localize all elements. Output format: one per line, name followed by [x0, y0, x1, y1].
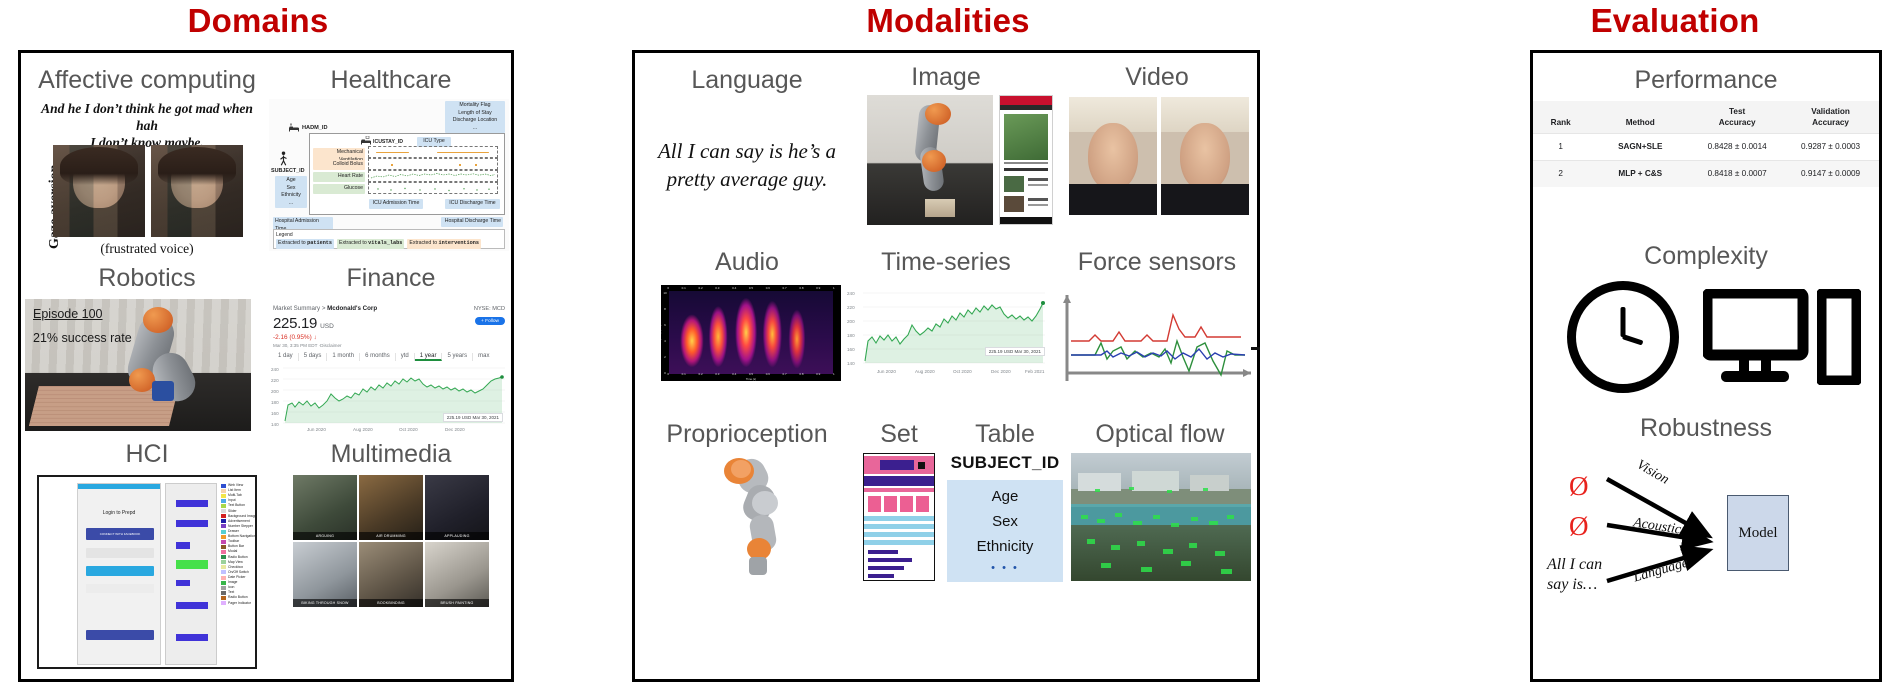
- outcome-discharge-location: Discharge Location: [447, 117, 503, 125]
- section-title-optical-flow: Optical flow: [1065, 421, 1255, 447]
- finance-breadcrumb-prefix: Market Summary >: [273, 305, 327, 312]
- ts-y-tick-180: 180: [847, 333, 855, 338]
- column-title-modalities: Modalities: [628, 2, 1268, 40]
- section-title-affective-computing: Affective computing: [27, 67, 267, 93]
- multimedia-tile: APPLAUDING: [425, 475, 489, 540]
- healthcare-row-glucose: Glucose: [313, 184, 365, 194]
- table-field-sex: Sex: [947, 510, 1063, 535]
- finance-y-tick-240: 240: [271, 367, 279, 372]
- modalities-panel: Language All I can say is he’s a pretty …: [632, 50, 1260, 682]
- subject-attr-ethnicity: Ethnicity: [277, 192, 305, 200]
- section-title-robotics: Robotics: [27, 265, 267, 291]
- multimedia-tile: BOOKBINDING: [359, 542, 423, 607]
- ts-x-tick-jun2020: Jun 2020: [877, 369, 896, 374]
- perf-row2-rank: 2: [1533, 161, 1588, 187]
- performance-table: Rank Method Test Accuracy Validation Acc…: [1533, 101, 1879, 187]
- affective-face-image-1: [53, 145, 145, 237]
- timeseries-tooltip: 225.19 USD Mar 30, 2021: [985, 347, 1045, 356]
- multimedia-caption: BOOKBINDING: [359, 599, 423, 607]
- table-field-age: Age: [947, 485, 1063, 510]
- section-title-set: Set: [847, 421, 951, 447]
- optical-flow-vectors: [1071, 453, 1251, 581]
- video-frame-1: [1069, 97, 1157, 215]
- ts-y-tick-240: 240: [847, 291, 855, 296]
- optical-flow-image: [1071, 453, 1251, 581]
- finance-tooltip: 225.19 USD Mar 30, 2021: [443, 413, 503, 422]
- monitor-icon: [1703, 289, 1813, 385]
- ts-x-tick-feb2021: Feb 2021: [1025, 369, 1044, 374]
- perf-row1-validation: 0.9287 ± 0.0003: [1782, 134, 1879, 161]
- legend-item-interventions: Extracted to interventions: [407, 239, 481, 249]
- finance-x-tick-aug2020: Aug 2020: [353, 427, 373, 432]
- perf-row1-rank: 1: [1533, 134, 1588, 161]
- affective-voice-caption: (frustrated voice): [31, 241, 263, 257]
- audio-spectrogram: 00.1 0.20.3 0.40.5 0.60.7 0.80.9 1 108 6…: [661, 285, 841, 381]
- table-figure: SUBJECT_ID Age Sex Ethnicity • • •: [947, 453, 1063, 582]
- ts-y-tick-160: 160: [847, 347, 855, 352]
- range-tab-1day[interactable]: 1 day: [273, 353, 299, 361]
- hci-wireframe: [165, 483, 217, 665]
- healthcare-mockup: Mortality Flag Length of Stay Discharge …: [269, 99, 509, 251]
- range-tab-5days[interactable]: 5 days: [299, 353, 328, 361]
- computer-tower-icon: [1817, 289, 1861, 385]
- audio-y-ticks: 108 64 20: [662, 291, 668, 375]
- glucose-sparkline: [369, 182, 497, 194]
- perf-row2-validation: 0.9147 ± 0.0009: [1782, 161, 1879, 187]
- healthcare-icustay-id: ICUSTAY_ID: [373, 139, 403, 145]
- healthcare-legend-title: Legend: [276, 232, 502, 238]
- robustness-text-line2: say is…: [1547, 576, 1597, 593]
- ts-y-tick-200: 200: [847, 319, 855, 324]
- multimedia-tile: AIR DRUMMING: [359, 475, 423, 540]
- perf-col-method: Method: [1588, 101, 1692, 134]
- multimedia-caption: BRUSH PAINTING: [425, 599, 489, 607]
- table-field-ellipsis: • • •: [947, 559, 1063, 577]
- perf-row2-method: MLP + C&S: [1588, 161, 1692, 187]
- finance-x-tick-jun2020: Jun 2020: [307, 427, 326, 432]
- perf-col-validation-accuracy: Validation Accuracy: [1782, 101, 1879, 134]
- ts-x-tick-oct2020: Oct 2020: [953, 369, 972, 374]
- robotics-episode-label: Episode 100: [33, 307, 103, 321]
- hci-mockup: Login to Prepd CONNECT WITH FACEBOOK: [37, 475, 257, 669]
- healthcare-hospital-discharge-time: Hospital Discharge Time: [441, 217, 503, 227]
- section-title-multimedia: Multimedia: [273, 441, 509, 467]
- clock-icon: [1567, 281, 1679, 393]
- range-tab-1year[interactable]: 1 year: [415, 353, 443, 361]
- section-title-force-sensors: Force sensors: [1059, 249, 1255, 275]
- section-title-hci: HCI: [27, 441, 267, 467]
- icu-bed-icon: [361, 136, 371, 145]
- robustness-language-text: All I can say is…: [1547, 555, 1602, 595]
- table-row: 2 MLP + C&S 0.8418 ± 0.0007 0.9147 ± 0.0…: [1533, 161, 1879, 187]
- finance-range-tabs[interactable]: 1 day 5 days 1 month 6 months ytd 1 year…: [273, 353, 494, 361]
- finance-ticker: NYSE: MCD: [474, 306, 505, 312]
- finance-mockup: Market Summary > Mcdonald's Corp 225.19 …: [269, 303, 509, 433]
- healthcare-outcome-box: Mortality Flag Length of Stay Discharge …: [445, 101, 505, 133]
- healthcare-row-colloid-bolus: Colloid Bolus: [313, 160, 365, 170]
- image-modality-robot-photo: [867, 95, 993, 225]
- finance-x-tick-oct2020: Oct 2020: [399, 427, 418, 432]
- hci-legend-item: Pager Indicator: [221, 601, 257, 606]
- finance-y-tick-180: 180: [271, 400, 279, 405]
- table-header-subject-id: SUBJECT_ID: [947, 453, 1063, 473]
- outcome-ellipsis: ...: [447, 125, 503, 133]
- healthcare-subject-id: SUBJECT_ID: [271, 168, 305, 174]
- section-title-audio: Audio: [647, 249, 847, 275]
- subject-attr-sex: Sex: [277, 185, 305, 193]
- image-modality-phone-screenshot: [999, 95, 1053, 225]
- heart-rate-sparkline: [369, 170, 497, 182]
- multimedia-tile: ARGUING: [293, 475, 357, 540]
- ts-y-tick-140: 140: [847, 361, 855, 366]
- multimodal-overview-figure: Domains Modalities Evaluation Affective …: [0, 0, 1894, 700]
- language-sample-line1: All I can say is he’s a: [658, 139, 836, 163]
- robustness-diagram: Ø Ø All I can say is… Vision Acoustic La…: [1533, 449, 1885, 639]
- finance-breadcrumb-entity: Mcdonald's Corp: [327, 305, 377, 312]
- finance-price: 225.19: [273, 315, 317, 332]
- multimedia-caption: APPLAUDING: [425, 532, 489, 540]
- section-title-performance: Performance: [1533, 67, 1879, 93]
- robotics-success-rate: 21% success rate: [33, 331, 132, 345]
- section-title-robustness: Robustness: [1533, 415, 1879, 441]
- timeseries-chart: 240 220 200 180 160 140 225.19 USD Mar 3…: [847, 287, 1047, 383]
- robustness-text-line1: All I can: [1547, 556, 1602, 573]
- table-row: 1 SAGN+SLE 0.8428 ± 0.0014 0.9287 ± 0.00…: [1533, 134, 1879, 161]
- range-tab-1month[interactable]: 1 month: [327, 353, 360, 361]
- perf-row1-test: 0.8428 ± 0.0014: [1692, 134, 1782, 161]
- finance-y-tick-160: 160: [271, 411, 279, 416]
- range-tab-5years[interactable]: 5 years: [442, 353, 473, 361]
- section-title-image: Image: [853, 64, 1039, 90]
- audio-ylabel: Frequency (kHz): [661, 325, 662, 346]
- perf-col-rank: Rank: [1533, 101, 1588, 134]
- robustness-null-acoustic: Ø: [1569, 511, 1589, 542]
- legend-item-vitals-labs: Extracted to vitals_labs: [337, 239, 404, 249]
- finance-currency: USD: [320, 323, 334, 330]
- language-sample-text: All I can say is he’s a pretty average g…: [641, 137, 853, 194]
- section-title-table: Table: [945, 421, 1065, 447]
- finance-y-tick-140: 140: [271, 422, 279, 427]
- hci-facebook-button[interactable]: CONNECT WITH FACEBOOK: [86, 528, 154, 540]
- perf-row2-test: 0.8418 ± 0.0007: [1692, 161, 1782, 187]
- person-icon: [279, 151, 288, 166]
- finance-timestamp: Mar 30, 3:35 PM EDT ·Disclaimer: [273, 343, 342, 348]
- section-title-finance: Finance: [273, 265, 509, 291]
- domains-panel: Affective computing And he I don’t think…: [18, 50, 514, 682]
- audio-xlabel: Time (s): [661, 377, 841, 381]
- range-tab-6months[interactable]: 6 months: [360, 353, 396, 361]
- bed-icon: [289, 123, 299, 132]
- finance-follow-button[interactable]: + Follow: [475, 317, 505, 325]
- healthcare-icu-admission-time: ICU Admission Time: [369, 199, 423, 209]
- multimedia-caption: ARGUING: [293, 532, 357, 540]
- finance-y-tick-220: 220: [271, 378, 279, 383]
- video-frame-2: [1161, 97, 1249, 215]
- hci-legend: Web View List Item Multi-Tab Input Text …: [221, 483, 257, 606]
- finance-breadcrumb: Market Summary > Mcdonald's Corp: [273, 305, 377, 312]
- perf-col-test-accuracy: Test Accuracy: [1692, 101, 1782, 134]
- healthcare-icu-discharge-time: ICU Discharge Time: [445, 199, 500, 209]
- set-figure: [863, 453, 935, 581]
- ts-x-tick-aug2020: Aug 2020: [915, 369, 935, 374]
- column-title-evaluation: Evaluation: [1520, 2, 1830, 40]
- column-title-domains: Domains: [0, 2, 516, 40]
- section-title-healthcare: Healthcare: [273, 67, 509, 93]
- multimedia-caption: AIR DRUMMING: [359, 532, 423, 540]
- table-field-ethnicity: Ethnicity: [947, 535, 1063, 560]
- finance-y-tick-200: 200: [271, 389, 279, 394]
- perf-row1-method: SAGN+SLE: [1588, 134, 1692, 161]
- robustness-null-vision: Ø: [1569, 471, 1589, 502]
- ts-x-tick-dec2020: Dec 2020: [991, 369, 1011, 374]
- healthcare-hadm-id: HADM_ID: [302, 125, 327, 131]
- section-title-complexity: Complexity: [1533, 243, 1879, 269]
- outcome-mortality-flag: Mortality Flag: [447, 102, 503, 110]
- healthcare-subject-attrs: Age Sex Ethnicity ...: [275, 176, 307, 208]
- legend-item-patients: Extracted to patients: [276, 239, 334, 249]
- section-title-timeseries: Time-series: [853, 249, 1039, 275]
- healthcare-legend: Legend Extracted to patients Extracted t…: [273, 229, 505, 249]
- proprioception-robot-arm: [693, 453, 817, 579]
- robotics-image: Episode 100 21% success rate: [25, 299, 251, 431]
- performance-table-header-row: Rank Method Test Accuracy Validation Acc…: [1533, 101, 1879, 134]
- model-box: Model: [1727, 495, 1789, 571]
- healthcare-row-heart-rate: Heart Rate: [313, 172, 365, 182]
- outcome-length-of-stay: Length of Stay: [447, 110, 503, 118]
- force-sensors-chart: [1055, 285, 1261, 389]
- affective-quote-line1: And he I don’t think he got mad when hah: [41, 101, 253, 133]
- multimedia-caption: BIKING THROUGH SNOW: [293, 599, 357, 607]
- range-tab-max[interactable]: max: [473, 353, 494, 361]
- evaluation-panel: Performance Rank Method Test Accuracy Va…: [1530, 50, 1882, 682]
- multimedia-tile: BRUSH PAINTING: [425, 542, 489, 607]
- subject-attr-ellipsis: ...: [277, 200, 305, 208]
- finance-x-tick-dec2020: Dec 2020: [445, 427, 465, 432]
- table-fields-box: Age Sex Ethnicity • • •: [947, 480, 1063, 582]
- hci-screen-title: Login to Prepd: [78, 510, 160, 516]
- section-title-video: Video: [1059, 64, 1255, 90]
- finance-delta: -2.16 (0.95%) ↓: [273, 334, 317, 341]
- section-title-language: Language: [647, 67, 847, 93]
- section-title-proprioception: Proprioception: [639, 421, 855, 447]
- subject-attr-age: Age: [277, 177, 305, 185]
- ts-y-tick-220: 220: [847, 305, 855, 310]
- range-tab-ytd[interactable]: ytd: [396, 353, 415, 361]
- multimedia-grid: ARGUING AIR DRUMMING APPLAUDING BIKING T…: [293, 475, 489, 607]
- language-sample-line2: pretty average guy.: [667, 167, 828, 191]
- multimedia-tile: BIKING THROUGH SNOW: [293, 542, 357, 607]
- affective-face-image-2: [151, 145, 243, 237]
- hci-phone-screenshot: Login to Prepd CONNECT WITH FACEBOOK: [77, 483, 161, 665]
